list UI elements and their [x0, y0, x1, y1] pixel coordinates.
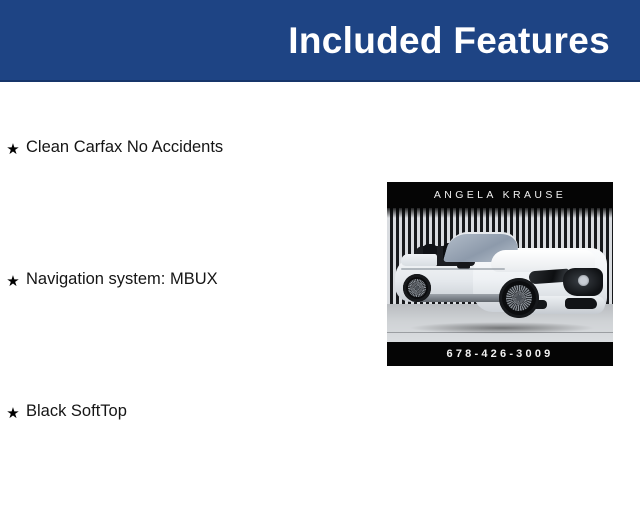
star-bullet-icon: ★	[0, 128, 26, 160]
star-bullet-icon: ★	[0, 260, 26, 292]
page-title: Included Features	[288, 22, 610, 59]
included-features-list: ★ Clean Carfax No Accidents ★ Navigation…	[0, 128, 380, 524]
page-header: Included Features	[0, 0, 640, 80]
feature-label: Clean Carfax No Accidents	[26, 128, 223, 158]
feature-label: Navigation system: MBUX	[26, 260, 218, 290]
list-item: ★ Navigation system: MBUX	[0, 260, 380, 392]
car-air-intake-right	[565, 298, 597, 309]
feature-label: Black SoftTop	[26, 392, 127, 422]
mercedes-star-emblem-icon	[578, 275, 589, 286]
car-front-hub	[516, 295, 522, 301]
car-illustration	[395, 224, 607, 336]
dealer-name-banner: ANGELA KRAUSE	[387, 182, 613, 208]
list-item: ★ Black SoftTop	[0, 392, 380, 524]
car-beltline	[401, 268, 505, 270]
car-ground-shadow	[409, 322, 595, 334]
list-item: ★ Clean Carfax No Accidents	[0, 128, 380, 260]
wall-shadow	[387, 208, 613, 218]
car-rear-hub	[415, 286, 419, 290]
star-bullet-icon: ★	[0, 392, 26, 424]
header-divider	[0, 80, 640, 82]
vehicle-photo: ANGELA KRAUSE 678-426-3009	[387, 182, 613, 366]
dealer-phone-banner: 678-426-3009	[387, 342, 613, 366]
car-tonneau-cover	[401, 254, 437, 266]
